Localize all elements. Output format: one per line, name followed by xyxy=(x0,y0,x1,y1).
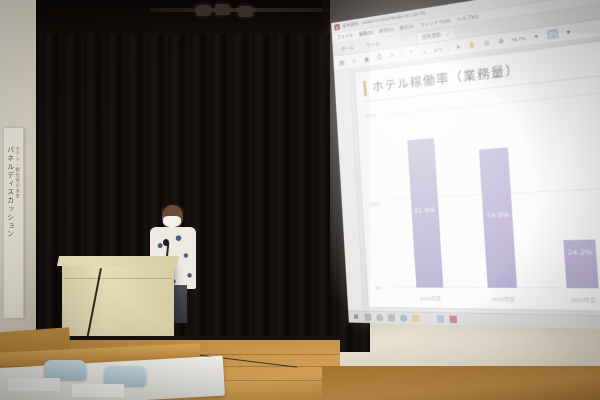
bar-column: 24.2% xyxy=(533,87,600,288)
podium-top xyxy=(57,256,179,266)
document-viewport[interactable]: ホテル稼働率（業務量） 100% 50% 0% xyxy=(334,33,600,315)
acrobat-logo-icon: A xyxy=(334,24,340,31)
bar-value-label: 24.2% xyxy=(568,249,593,257)
x-tick-2019: 2019年度 xyxy=(470,295,539,303)
save-icon[interactable]: ▤ xyxy=(338,58,346,67)
bar-chart: 100% 50% 0% 81.9% xyxy=(365,82,600,305)
star-icon[interactable]: ☆ xyxy=(350,56,358,65)
x-axis-labels: 2018年度 2019年度 2020年度 xyxy=(396,295,600,305)
page-down-icon[interactable]: ⌄ xyxy=(420,47,429,56)
toolbar-divider xyxy=(447,44,449,53)
toolbar-spacer xyxy=(579,27,600,30)
chair-back xyxy=(104,366,146,386)
menu-item-view[interactable]: 表示(V) xyxy=(379,26,394,34)
projected-screen: A 配布資料 - Adobe Acrobat Reader DC (32-bit… xyxy=(331,0,600,330)
bar-column: 74.0% xyxy=(457,96,537,288)
acrobat-window: A 配布資料 - Adobe Acrobat Reader DC (32-bit… xyxy=(331,0,600,330)
chair-frame xyxy=(8,378,60,391)
toolbar-divider xyxy=(401,50,403,58)
bar-2018: 81.9% xyxy=(407,138,443,287)
explorer-icon[interactable] xyxy=(412,315,420,323)
page-up-icon[interactable]: ⌃ xyxy=(407,48,416,57)
edge-icon[interactable] xyxy=(400,314,407,321)
slide-title: ホテル稼働率（業務量） xyxy=(372,61,521,95)
bar-column: 81.9% xyxy=(388,104,462,288)
menu-item-sign[interactable]: 署名(S) xyxy=(399,23,414,31)
close-icon[interactable]: ✕ xyxy=(445,32,449,38)
cortana-icon[interactable] xyxy=(376,314,383,321)
chair-back xyxy=(44,360,86,380)
taskview-icon[interactable] xyxy=(388,314,395,321)
bar-2020: 24.2% xyxy=(564,240,599,288)
stage-light-icon xyxy=(196,5,211,16)
fit-page-button[interactable]: ⛶ xyxy=(546,29,557,39)
select-tool-icon[interactable]: ➤ xyxy=(454,42,463,52)
mail-icon[interactable] xyxy=(437,315,445,323)
page-indicator[interactable]: 3 / 4 xyxy=(434,46,443,52)
menu-item-help[interactable]: ヘルプ(H) xyxy=(457,13,478,23)
x-tick-2020: 2020年度 xyxy=(546,296,600,305)
acrobat-icon[interactable] xyxy=(449,315,457,323)
hand-tool-icon[interactable]: ✋ xyxy=(468,40,477,50)
microphone-icon xyxy=(163,239,169,246)
banner-subtitle: ホテル・観光業の未来 xyxy=(15,146,21,318)
y-tick-100: 100% xyxy=(365,113,377,119)
pdf-page: ホテル稼働率（業務量） 100% 50% 0% xyxy=(355,39,600,310)
print-icon[interactable]: ⎙ xyxy=(375,53,383,62)
chair-frame xyxy=(72,384,124,397)
banner-title: パネルディスカッション xyxy=(6,146,13,318)
title-accent-bar xyxy=(363,80,367,95)
bar-value-label: 81.9% xyxy=(414,207,435,215)
face-mask xyxy=(163,216,181,227)
bar-value-label: 74.0% xyxy=(487,212,510,221)
chevron-down-icon[interactable]: ▾ xyxy=(563,27,573,37)
y-tick-0: 0% xyxy=(375,285,382,290)
cloud-icon[interactable]: ◉ xyxy=(363,55,371,64)
x-tick-2018: 2018年度 xyxy=(399,295,463,303)
zoom-level[interactable]: 76.7% xyxy=(511,35,526,42)
menu-item-file[interactable]: ファイル xyxy=(337,32,354,40)
stage-light-icon xyxy=(238,6,253,17)
chevron-down-icon[interactable]: ▾ xyxy=(531,31,541,41)
search-icon[interactable] xyxy=(364,314,371,321)
bar-2019: 74.0% xyxy=(479,147,517,288)
auditorium-photo: パネルディスカッション ホテル・観光業の未来 A 配布資料 - Adobe Ac… xyxy=(0,0,600,400)
stage-light-icon xyxy=(215,4,230,15)
y-tick-50: 50% xyxy=(370,202,379,208)
event-banner: パネルディスカッション ホテル・観光業の未来 xyxy=(3,128,24,318)
start-button[interactable]: ⊞ xyxy=(352,313,360,321)
zoom-out-icon[interactable]: ⊖ xyxy=(482,38,491,48)
bar-series: 81.9% 74.0% 24.2 xyxy=(384,87,600,288)
zoom-in-icon[interactable]: ⊕ xyxy=(496,36,506,46)
floor-right xyxy=(322,366,600,400)
podium-edge xyxy=(64,278,172,279)
tab-document-label: 配布資料 xyxy=(422,32,442,41)
store-icon[interactable] xyxy=(424,315,432,323)
plot-area: 81.9% 74.0% 24.2 xyxy=(384,87,600,288)
menu-item-edit[interactable]: 編集(E) xyxy=(359,29,373,37)
search-icon[interactable]: ⌕ xyxy=(388,51,396,60)
